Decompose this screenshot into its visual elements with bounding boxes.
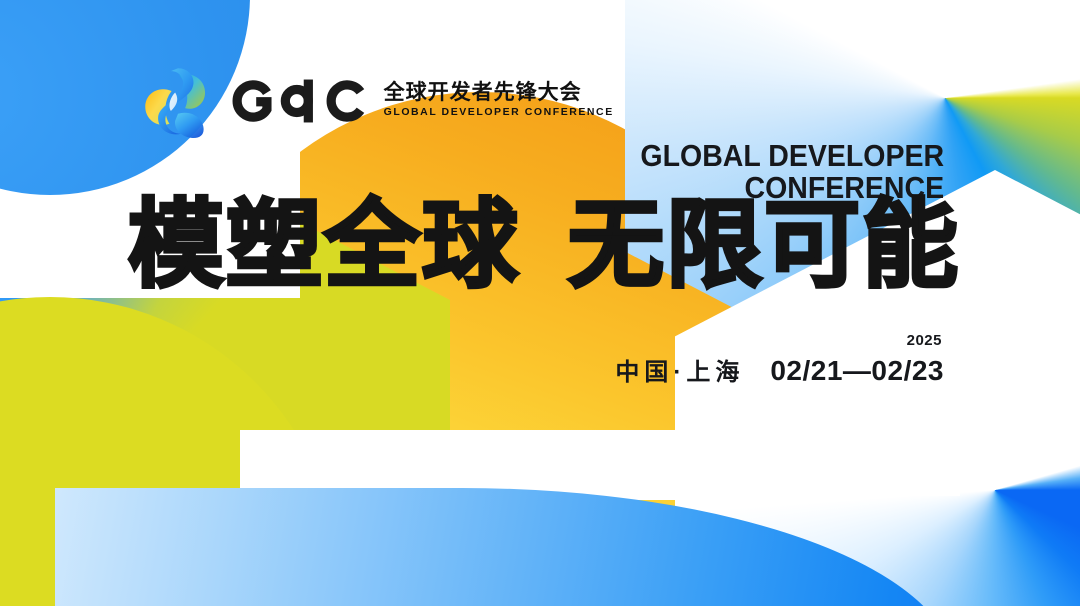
gdc-logo-lockup: 全球开发者先锋大会 GLOBAL DEVELOPER CONFERENCE <box>142 64 614 138</box>
event-date-main: 中国·上海 02/21—02/23 <box>615 352 944 387</box>
gdc-logo-chinese-name: 全球开发者先锋大会 <box>384 82 614 104</box>
gdc-trilobe-swirl-icon <box>142 64 214 138</box>
gdc-logo-text-block: 全球开发者先锋大会 GLOBAL DEVELOPER CONFERENCE <box>384 82 614 120</box>
event-date-range: 02/21—02/23 <box>770 355 944 387</box>
main-slogan: 模塑全球 无限可能 <box>128 198 960 294</box>
gdc-wordmark-icon <box>224 78 370 124</box>
english-headline-line1: GLOBAL DEVELOPER <box>640 140 944 172</box>
gdc-2025-key-visual-poster: 全球开发者先锋大会 GLOBAL DEVELOPER CONFERENCE GL… <box>0 0 1080 606</box>
slogan-part-1: 模塑全球 <box>128 198 520 294</box>
event-date-block: 2025 中国·上海 02/21—02/23 <box>615 333 944 387</box>
poster-content-layer: 全球开发者先锋大会 GLOBAL DEVELOPER CONFERENCE GL… <box>0 0 1080 606</box>
slogan-part-2: 无限可能 <box>568 198 960 294</box>
gdc-logo-english-name: GLOBAL DEVELOPER CONFERENCE <box>384 106 614 120</box>
event-year: 2025 <box>615 333 942 350</box>
event-city: 中国·上海 <box>615 352 744 387</box>
